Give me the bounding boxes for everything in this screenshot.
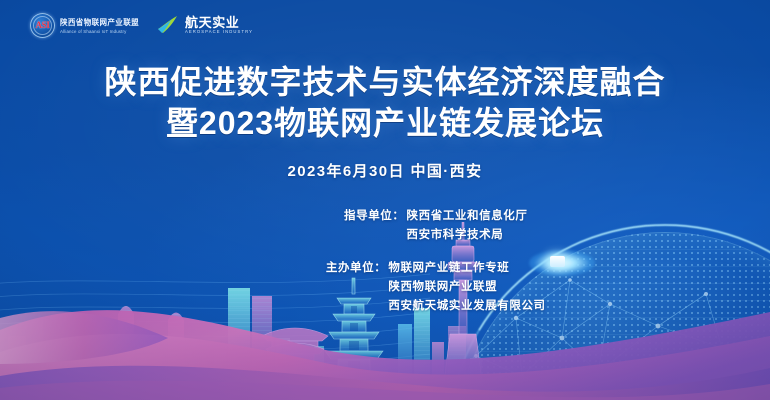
organizers-block: 指导单位： 陕西省工业和信息化厅 西安市科学技术局 主办单位： 物联网产业链工作… — [0, 207, 770, 316]
organizer-label: 指导单位： — [344, 207, 405, 226]
title-line-1: 陕西促进数字技术与实体经济深度融合 — [0, 64, 770, 101]
list-item: 西安航天城实业发展有限公司 — [388, 297, 545, 316]
asi-badge-text: ASI — [35, 20, 49, 30]
organizer-list: 陕西省工业和信息化厅 西安市科学技术局 — [407, 207, 528, 245]
event-date-location: 2023年6月30日 中国·西安 — [0, 160, 770, 181]
list-item: 西安市科学技术局 — [407, 226, 528, 245]
organizer-list: 物联网产业链工作专班 陕西物联网产业联盟 西安航天城实业发展有限公司 — [388, 259, 545, 316]
page-title: 陕西促进数字技术与实体经济深度融合 暨2023物联网产业链发展论坛 — [0, 64, 770, 142]
conference-poster: ASI 陕西省物联网产业联盟 Alliance of Shaanxi IoT I… — [0, 0, 770, 400]
title-line-2: 暨2023物联网产业链发展论坛 — [0, 105, 770, 142]
list-item: 陕西省工业和信息化厅 — [407, 207, 528, 226]
organizer-group-guidance: 指导单位： 陕西省工业和信息化厅 西安市科学技术局 — [243, 207, 528, 245]
poster-content: 陕西促进数字技术与实体经济深度融合 暨2023物联网产业链发展论坛 2023年6… — [0, 0, 770, 316]
list-item: 陕西物联网产业联盟 — [388, 278, 545, 297]
organizer-label: 主办单位： — [326, 259, 387, 278]
organizer-group-host: 主办单位： 物联网产业链工作专班 陕西物联网产业联盟 西安航天城实业发展有限公司 — [224, 259, 545, 316]
list-item: 物联网产业链工作专班 — [388, 259, 545, 278]
